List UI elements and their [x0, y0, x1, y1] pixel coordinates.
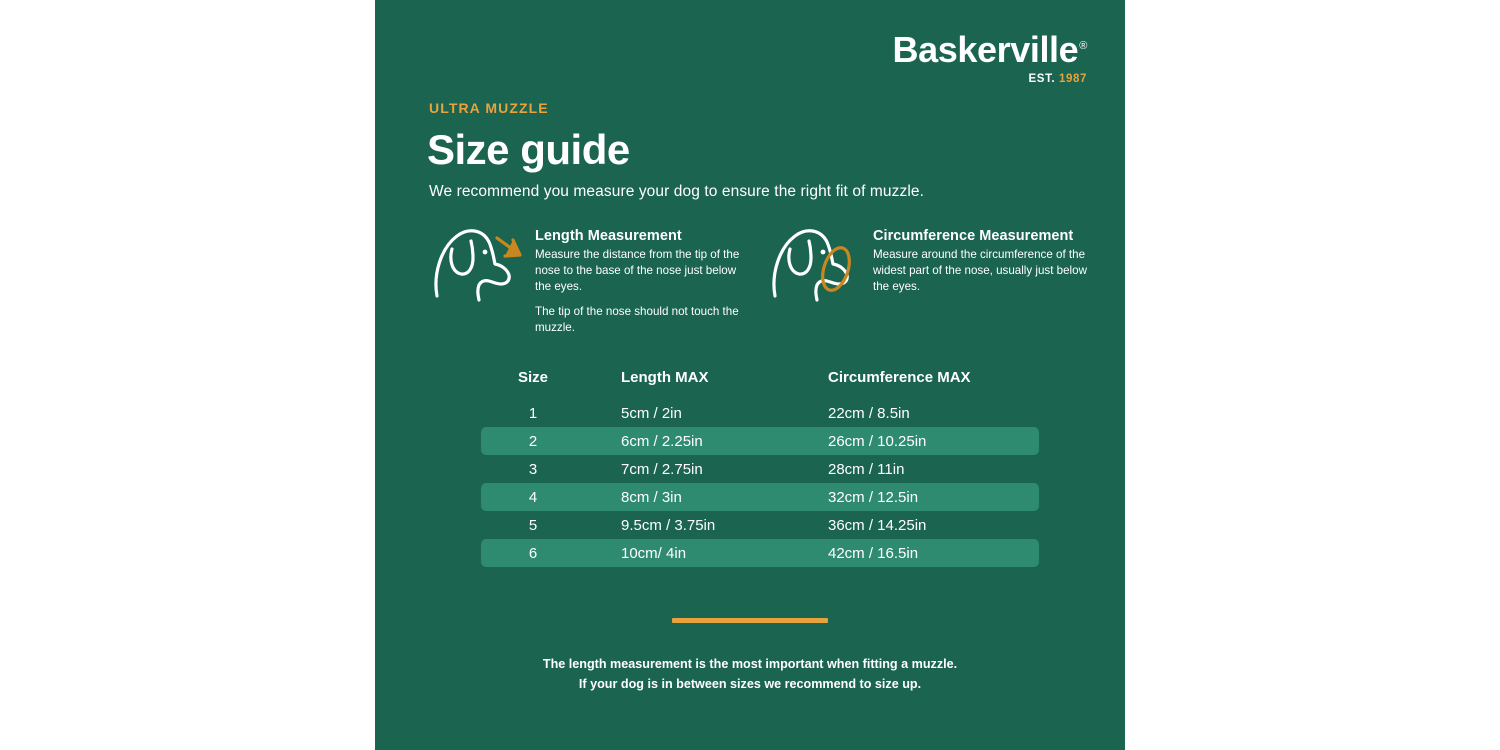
logo-wordmark-text: Baskerville	[893, 29, 1079, 70]
measurement-paragraph-length-1: Measure the distance from the tip of the…	[535, 247, 750, 295]
cell-circumference: 32cm / 12.5in	[792, 489, 1039, 506]
measurement-title-circumference: Circumference Measurement	[873, 228, 1088, 244]
poster-canvas: Baskerville® EST. 1987 ULTRA MUZZLE Size…	[0, 0, 1500, 750]
cell-circumference: 22cm / 8.5in	[792, 405, 1039, 422]
table-header-row: Size Length MAX Circumference MAX	[481, 362, 1039, 392]
footer-divider	[672, 618, 828, 623]
cell-size: 6	[481, 545, 585, 562]
logo-established-year: 1987	[1059, 73, 1087, 85]
cell-length: 8cm / 3in	[585, 489, 792, 506]
cell-length: 7cm / 2.75in	[585, 461, 792, 478]
size-table: Size Length MAX Circumference MAX 1 5cm …	[481, 362, 1039, 567]
table-row: 2 6cm / 2.25in 26cm / 10.25in	[481, 427, 1039, 455]
column-header-length-max: Length MAX	[585, 369, 792, 386]
logo-wordmark: Baskerville®	[893, 32, 1087, 68]
cell-size: 3	[481, 461, 585, 478]
measurement-block-length: Length Measurement Measure the distance …	[427, 218, 752, 335]
cell-length: 5cm / 2in	[585, 405, 792, 422]
measurement-title-length: Length Measurement	[535, 228, 750, 244]
product-eyebrow: ULTRA MUZZLE	[429, 100, 549, 116]
measurement-block-circumference: Circumference Measurement Measure around…	[765, 218, 1095, 302]
cell-circumference: 26cm / 10.25in	[792, 433, 1039, 450]
cell-circumference: 36cm / 14.25in	[792, 517, 1039, 534]
cell-circumference: 42cm / 16.5in	[792, 545, 1039, 562]
brand-logo: Baskerville® EST. 1987	[893, 32, 1087, 86]
cell-size: 2	[481, 433, 585, 450]
measurement-text-circumference: Circumference Measurement Measure around…	[873, 218, 1088, 295]
column-header-circumference-max: Circumference MAX	[792, 369, 1039, 386]
logo-established: EST. 1987	[893, 74, 1087, 86]
footer-note-line-2: If your dog is in between sizes we recom…	[375, 675, 1125, 695]
cell-length: 9.5cm / 3.75in	[585, 517, 792, 534]
cell-circumference: 28cm / 11in	[792, 461, 1039, 478]
dog-head-circumference-loop-icon	[765, 222, 865, 302]
table-row: 4 8cm / 3in 32cm / 12.5in	[481, 483, 1039, 511]
footer-note-line-1: The length measurement is the most impor…	[375, 655, 1125, 675]
page-subtitle: We recommend you measure your dog to ens…	[429, 183, 924, 201]
measurement-text-length: Length Measurement Measure the distance …	[535, 218, 750, 335]
cell-size: 1	[481, 405, 585, 422]
page-title: Size guide	[427, 126, 630, 174]
table-row: 5 9.5cm / 3.75in 36cm / 14.25in	[481, 511, 1039, 539]
footer-note: The length measurement is the most impor…	[375, 655, 1125, 694]
cell-size: 5	[481, 517, 585, 534]
cell-length: 10cm/ 4in	[585, 545, 792, 562]
measurement-paragraph-length-2: The tip of the nose should not touch the…	[535, 304, 750, 336]
dog-head-length-arrow-icon	[427, 222, 527, 302]
column-header-size: Size	[481, 369, 585, 386]
cell-size: 4	[481, 489, 585, 506]
table-row: 3 7cm / 2.75in 28cm / 11in	[481, 455, 1039, 483]
table-row: 6 10cm/ 4in 42cm / 16.5in	[481, 539, 1039, 567]
measurement-paragraph-circumference-1: Measure around the circumference of the …	[873, 247, 1088, 295]
registered-trademark-icon: ®	[1079, 40, 1087, 52]
cell-length: 6cm / 2.25in	[585, 433, 792, 450]
logo-established-label: EST.	[1029, 73, 1056, 85]
size-guide-panel: Baskerville® EST. 1987 ULTRA MUZZLE Size…	[375, 0, 1125, 750]
table-row: 1 5cm / 2in 22cm / 8.5in	[481, 399, 1039, 427]
